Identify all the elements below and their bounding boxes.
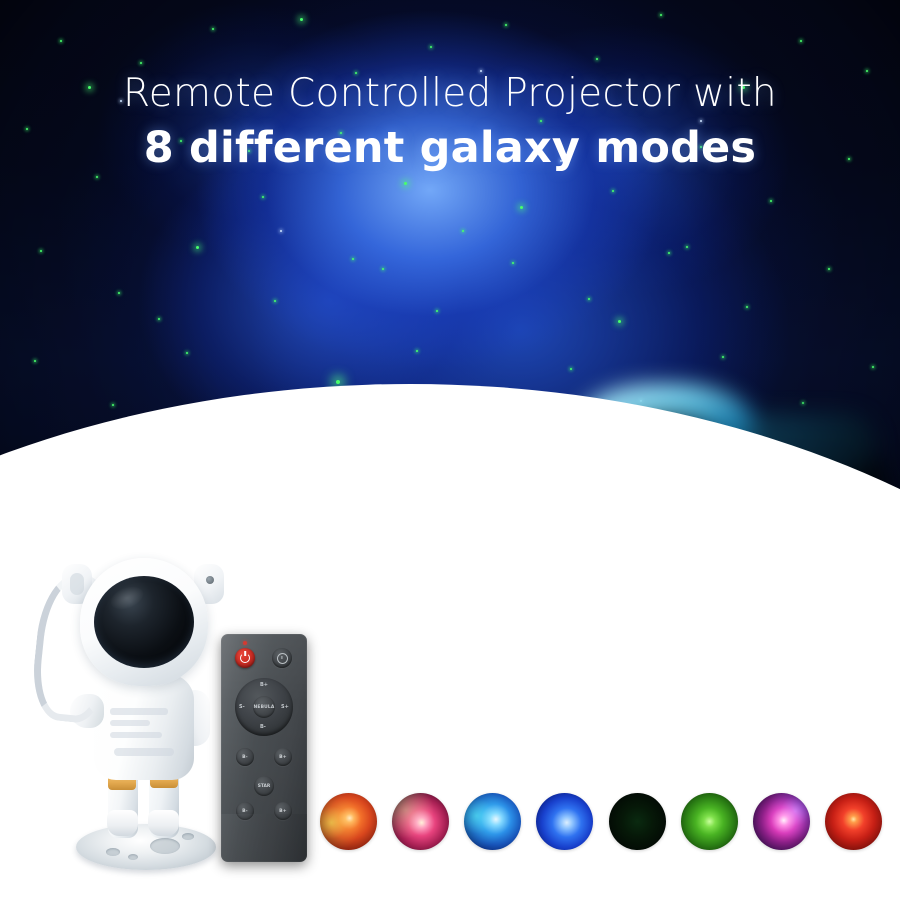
star-dot: [212, 28, 214, 30]
crater-small: [106, 848, 120, 856]
star-dot: [866, 70, 868, 72]
star-dot: [118, 292, 120, 294]
boot-right: [148, 810, 179, 836]
star-dot: [746, 306, 748, 308]
star-dot: [34, 360, 36, 362]
suit-body: [94, 674, 194, 780]
star-dot: [700, 146, 702, 148]
dpad-label-right[interactable]: S+: [281, 704, 289, 710]
star-dot: [596, 58, 598, 60]
star-dot: [512, 262, 514, 264]
star-dot: [60, 40, 62, 42]
power-button[interactable]: [235, 648, 255, 668]
star-dot: [180, 140, 182, 142]
star-dot: [612, 190, 614, 192]
galaxy-mode-8[interactable]: [825, 793, 882, 850]
star-dot-white: [700, 120, 702, 122]
star-dot: [520, 206, 523, 209]
product-banner: Remote Controlled Projector with 8 diffe…: [0, 0, 900, 900]
star-dot-white: [560, 160, 562, 162]
star-dot: [158, 318, 160, 320]
star-dot: [40, 250, 42, 252]
star-dot: [470, 150, 472, 152]
star-dot: [112, 404, 114, 406]
suit-panel-1: [110, 708, 168, 715]
star-dot: [382, 268, 384, 270]
star-dot: [828, 268, 830, 270]
suit-belt: [114, 748, 174, 756]
star-dot: [355, 72, 357, 74]
galaxy-mode-swatches: [320, 790, 882, 852]
dpad-label-left[interactable]: S-: [239, 704, 245, 710]
star-dot: [196, 246, 199, 249]
boot-left: [107, 810, 138, 836]
galaxy-mode-5[interactable]: [609, 793, 666, 850]
crater-large: [150, 838, 180, 854]
star-dot: [352, 258, 354, 260]
star-dot: [140, 62, 142, 64]
star-dot: [686, 246, 688, 248]
star-dot: [436, 310, 438, 312]
nebula-button[interactable]: NEBULA: [253, 696, 275, 718]
galaxy-mode-7[interactable]: [753, 793, 810, 850]
star-dot: [88, 86, 91, 89]
star-dot: [540, 120, 542, 122]
star-dot: [668, 252, 670, 254]
mid-right-button[interactable]: B+: [274, 748, 292, 766]
suit-panel-2: [110, 720, 150, 726]
crater-tiny: [128, 854, 138, 860]
star-dot: [96, 176, 98, 178]
remote-lower-body: [221, 814, 307, 862]
crater-tiny-2: [182, 833, 194, 840]
star-dot: [618, 320, 621, 323]
star-dot: [570, 368, 572, 370]
star-dot-white: [120, 100, 122, 102]
star-dot: [660, 14, 662, 16]
mid-left-button[interactable]: B-: [236, 748, 254, 766]
star-dot: [872, 366, 874, 368]
star-button[interactable]: STAR: [254, 776, 274, 796]
timer-button[interactable]: [272, 648, 292, 668]
astronaut-projector: [28, 528, 228, 870]
star-dot: [26, 128, 28, 130]
star-dot: [505, 24, 507, 26]
star-dot: [416, 350, 418, 352]
visor-dome: [94, 576, 194, 668]
helmet-ear-left-inner: [70, 573, 84, 595]
star-dot-white: [480, 70, 482, 72]
star-dot: [340, 132, 342, 134]
star-dot: [722, 356, 724, 358]
star-dot: [430, 46, 432, 48]
star-dot: [462, 230, 464, 232]
dpad-label-up[interactable]: B+: [260, 682, 268, 688]
star-dot: [742, 86, 745, 89]
remote-control[interactable]: B+ S- NEBULA S+ B- B- B+ STAR B- B+: [221, 634, 307, 862]
galaxy-mode-3[interactable]: [464, 793, 521, 850]
star-dot: [588, 298, 590, 300]
star-dot: [248, 150, 250, 152]
star-dot: [274, 300, 276, 302]
star-dot: [404, 182, 407, 185]
star-dot-white: [280, 230, 282, 232]
galaxy-mode-6[interactable]: [681, 793, 738, 850]
star-dot: [770, 200, 772, 202]
suit-panel-3: [110, 732, 162, 738]
galaxy-mode-2[interactable]: [392, 793, 449, 850]
sensor-dot-icon: [206, 576, 214, 584]
led-indicator: [243, 641, 247, 645]
moon-base: [76, 824, 216, 870]
star-dot: [300, 18, 303, 21]
dpad-label-down[interactable]: B-: [260, 724, 266, 730]
star-dot: [336, 380, 340, 384]
power-icon: [240, 653, 250, 663]
galaxy-mode-1[interactable]: [320, 793, 377, 850]
timer-icon: [277, 653, 288, 664]
galaxy-mode-4[interactable]: [536, 793, 593, 850]
star-dot: [848, 158, 850, 160]
star-dot: [800, 40, 802, 42]
star-dot: [262, 196, 264, 198]
star-dot: [186, 352, 188, 354]
